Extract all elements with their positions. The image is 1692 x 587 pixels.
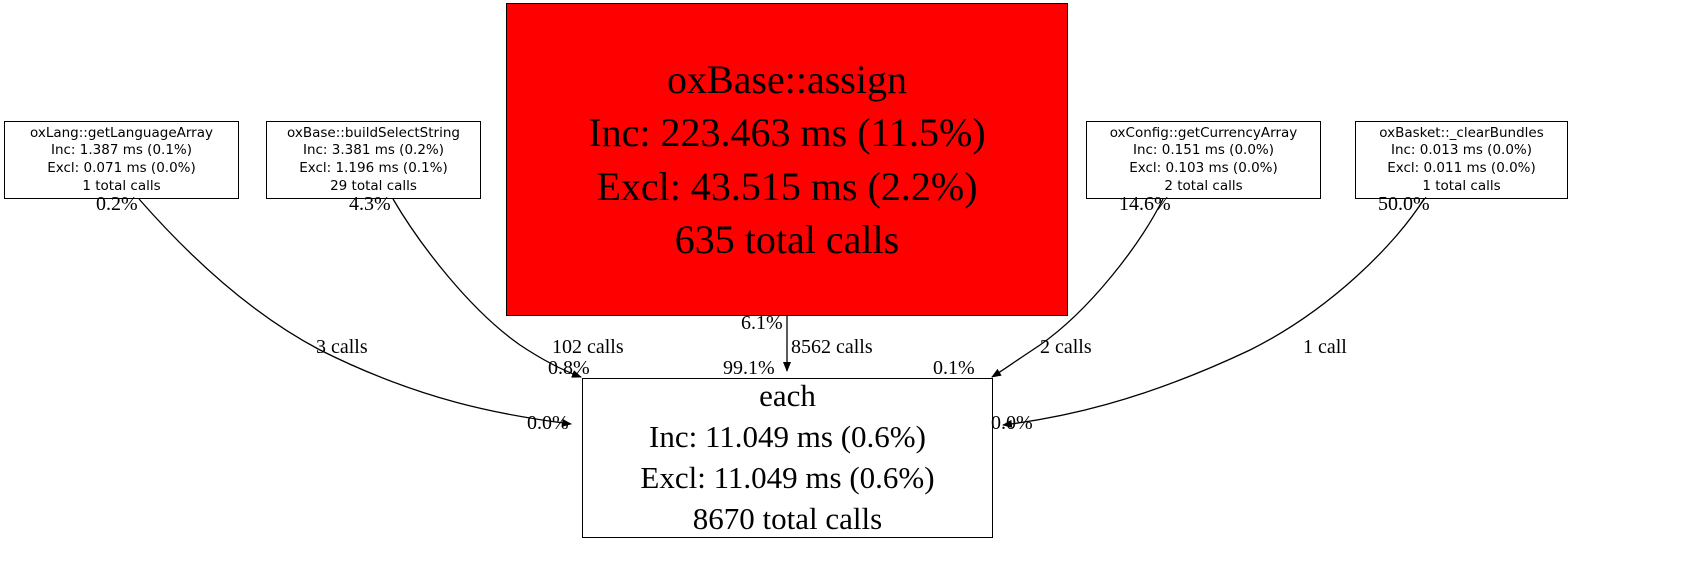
node-inclusive: Inc: 3.381 ms (0.2%)	[303, 142, 444, 160]
node-oxbasket-clearbundles[interactable]: oxBasket::_clearBundles Inc: 0.013 ms (0…	[1355, 121, 1568, 199]
node-title: oxConfig::getCurrencyArray	[1110, 125, 1298, 143]
edge-target-pct-buildselectstring: 0.8%	[548, 358, 590, 378]
node-oxbase-buildselectstring[interactable]: oxBase::buildSelectString Inc: 3.381 ms …	[266, 121, 481, 199]
node-exclusive: Excl: 43.515 ms (2.2%)	[596, 160, 977, 213]
node-oxbase-assign[interactable]: oxBase::assign Inc: 223.463 ms (11.5%) E…	[506, 3, 1068, 316]
node-title: oxBase::assign	[667, 53, 907, 106]
node-title: oxLang::getLanguageArray	[30, 125, 213, 143]
node-inclusive: Inc: 1.387 ms (0.1%)	[51, 142, 192, 160]
edge-source-pct-assign: 6.1%	[741, 313, 783, 333]
node-total-calls: 635 total calls	[675, 213, 899, 266]
edge-source-pct-clearbundles: 50.0%	[1378, 194, 1430, 214]
edge-calls-clearbundles: 1 call	[1303, 337, 1347, 357]
node-title: oxBasket::_clearBundles	[1379, 125, 1544, 143]
node-total-calls: 1 total calls	[1422, 178, 1500, 196]
node-title: each	[759, 376, 816, 417]
node-oxlang-getlanguagearray[interactable]: oxLang::getLanguageArray Inc: 1.387 ms (…	[4, 121, 239, 199]
node-exclusive: Excl: 0.011 ms (0.0%)	[1387, 160, 1536, 178]
node-inclusive: Inc: 223.463 ms (11.5%)	[588, 106, 985, 159]
node-exclusive: Excl: 0.103 ms (0.0%)	[1129, 160, 1278, 178]
node-each[interactable]: each Inc: 11.049 ms (0.6%) Excl: 11.049 …	[582, 378, 993, 538]
node-total-calls: 2 total calls	[1164, 178, 1242, 196]
edge-target-pct-assign: 99.1%	[723, 358, 775, 378]
node-exclusive: Excl: 11.049 ms (0.6%)	[640, 458, 934, 499]
call-graph-canvas: oxLang::getLanguageArray Inc: 1.387 ms (…	[0, 0, 1692, 587]
node-oxconfig-getcurrencyarray[interactable]: oxConfig::getCurrencyArray Inc: 0.151 ms…	[1086, 121, 1321, 199]
edge-source-pct-getlanguagearray: 0.2%	[96, 194, 138, 214]
node-title: oxBase::buildSelectString	[287, 125, 460, 143]
edge-calls-buildselectstring: 102 calls	[552, 337, 624, 357]
edge-calls-getlanguagearray: 3 calls	[316, 337, 368, 357]
node-inclusive: Inc: 0.013 ms (0.0%)	[1391, 142, 1532, 160]
edge-source-pct-getcurrencyarray: 14.6%	[1119, 194, 1171, 214]
edge-target-pct-getcurrencyarray: 0.1%	[933, 358, 975, 378]
edge-target-pct-clearbundles: 0.0%	[991, 413, 1033, 433]
edge-calls-assign: 8562 calls	[791, 337, 873, 357]
edge-source-pct-buildselectstring: 4.3%	[349, 194, 391, 214]
edge-target-pct-getlanguagearray: 0.0%	[527, 413, 569, 433]
node-exclusive: Excl: 0.071 ms (0.0%)	[47, 160, 196, 178]
node-exclusive: Excl: 1.196 ms (0.1%)	[299, 160, 448, 178]
node-inclusive: Inc: 11.049 ms (0.6%)	[649, 417, 926, 458]
edge-calls-getcurrencyarray: 2 calls	[1040, 337, 1092, 357]
node-inclusive: Inc: 0.151 ms (0.0%)	[1133, 142, 1274, 160]
node-total-calls: 8670 total calls	[693, 499, 882, 540]
